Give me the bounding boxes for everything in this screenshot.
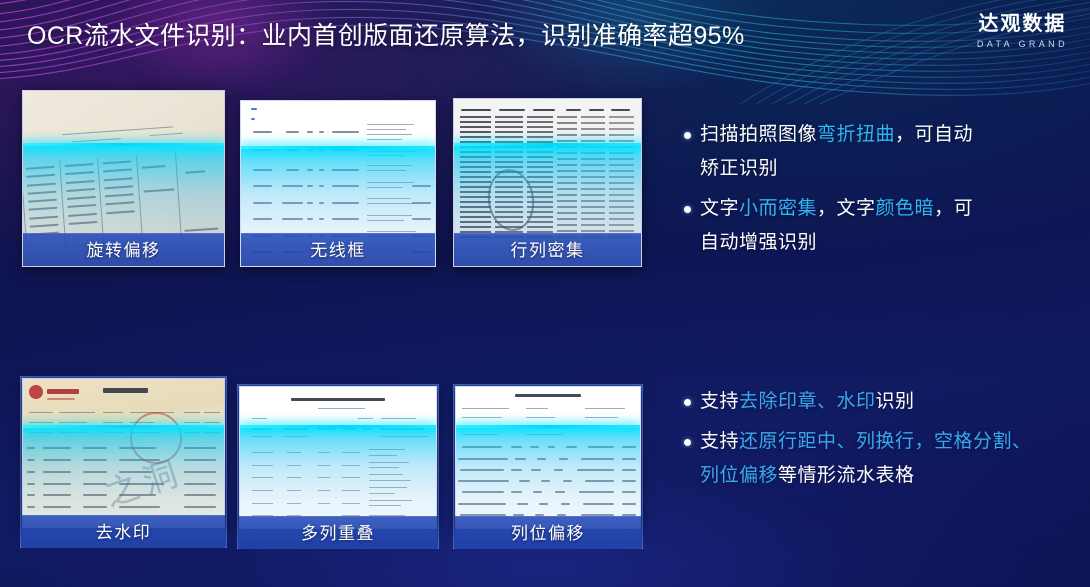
document-preview-shifted bbox=[456, 387, 640, 528]
bullet-seg-highlight: 去除印章、水印 bbox=[739, 391, 876, 412]
thumbnail-rotated-offset[interactable]: 旋转偏移 bbox=[22, 90, 225, 267]
bullet-item: 支持去除印章、水印识别 bbox=[684, 385, 1074, 419]
bullet-list-bottom: 支持去除印章、水印识别 支持还原行距中、列换行，空格分割、 列位偏移等情形流水表… bbox=[684, 385, 1074, 499]
bullet-seg-line2: 等情形流水表格 bbox=[778, 465, 915, 486]
bullet-seg: ，可 bbox=[934, 198, 973, 219]
brand-logo: 达观数据 DATA GRAND bbox=[977, 12, 1068, 52]
thumbnail-borderless-table[interactable]: 无线框 bbox=[240, 100, 436, 267]
document-preview-bank: 之洞 bbox=[23, 379, 224, 527]
bullet-seg: 识别 bbox=[876, 391, 915, 412]
bullet-seg-highlight-line2: 列位偏移 bbox=[700, 465, 778, 486]
document-preview-multicolumn bbox=[240, 387, 436, 528]
bullet-seg: ，文字 bbox=[817, 198, 876, 219]
bullet-item: 文字小而密集，文字颜色暗，可 自动增强识别 bbox=[684, 192, 1074, 260]
thumbnail-caption: 无线框 bbox=[241, 233, 435, 266]
bullet-dot-icon bbox=[684, 132, 691, 139]
bank-logo-icon bbox=[29, 385, 43, 399]
bullet-seg: 扫描拍照图像 bbox=[700, 124, 817, 145]
bullet-item: 扫描拍照图像弯折扭曲，可自动 矫正识别 bbox=[684, 118, 1074, 186]
bullet-seg: 支持 bbox=[700, 431, 739, 452]
bullet-seg: ，可自动 bbox=[895, 124, 973, 145]
thumbnail-caption: 去水印 bbox=[22, 515, 225, 548]
thumbnail-caption: 行列密集 bbox=[454, 233, 641, 266]
bullet-seg-highlight: 颜色暗 bbox=[876, 198, 935, 219]
bullet-text: 支持还原行距中、列换行，空格分割、 列位偏移等情形流水表格 bbox=[700, 425, 1032, 493]
bullet-dot-icon bbox=[684, 439, 691, 446]
thumbnail-remove-watermark[interactable]: 之洞 bbox=[22, 378, 225, 528]
thumbnail-multi-column-overlap[interactable] bbox=[239, 386, 437, 529]
bullet-dot-icon bbox=[684, 399, 691, 406]
thumbnail-column-shift[interactable] bbox=[455, 386, 641, 529]
thumbnail-caption: 多列重叠 bbox=[239, 516, 437, 549]
bullet-text: 文字小而密集，文字颜色暗，可 自动增强识别 bbox=[700, 192, 973, 260]
bullet-seg-highlight: 小而密集 bbox=[739, 198, 817, 219]
thumbnail-caption: 旋转偏移 bbox=[23, 233, 224, 266]
page-title: OCR流水文件识别：业内首创版面还原算法，识别准确率超95% bbox=[27, 15, 745, 57]
slide-canvas: OCR流水文件识别：业内首创版面还原算法，识别准确率超95% 达观数据 DATA… bbox=[0, 0, 1090, 587]
bullet-seg-line2: 矫正识别 bbox=[700, 158, 778, 179]
bullet-seg-line2: 自动增强识别 bbox=[700, 232, 817, 253]
bullet-seg-highlight: 弯折扭曲 bbox=[817, 124, 895, 145]
bullet-seg: 文字 bbox=[700, 198, 739, 219]
thumbnail-caption: 列位偏移 bbox=[455, 516, 641, 549]
logo-text-cn: 达观数据 bbox=[977, 12, 1068, 36]
logo-text-en: DATA GRAND bbox=[977, 36, 1068, 52]
bullet-text: 支持去除印章、水印识别 bbox=[700, 385, 915, 419]
bullet-dot-icon bbox=[684, 206, 691, 213]
bullet-text: 扫描拍照图像弯折扭曲，可自动 矫正识别 bbox=[700, 118, 973, 186]
bullet-item: 支持还原行距中、列换行，空格分割、 列位偏移等情形流水表格 bbox=[684, 425, 1074, 493]
bullet-list-top: 扫描拍照图像弯折扭曲，可自动 矫正识别 文字小而密集，文字颜色暗，可 自动增强识… bbox=[684, 118, 1074, 266]
bullet-seg: 支持 bbox=[700, 391, 739, 412]
thumbnail-dense-rows-cols[interactable]: 行列密集 bbox=[453, 98, 642, 267]
bullet-seg-highlight: 还原行距中、列换行，空格分割、 bbox=[739, 431, 1032, 452]
